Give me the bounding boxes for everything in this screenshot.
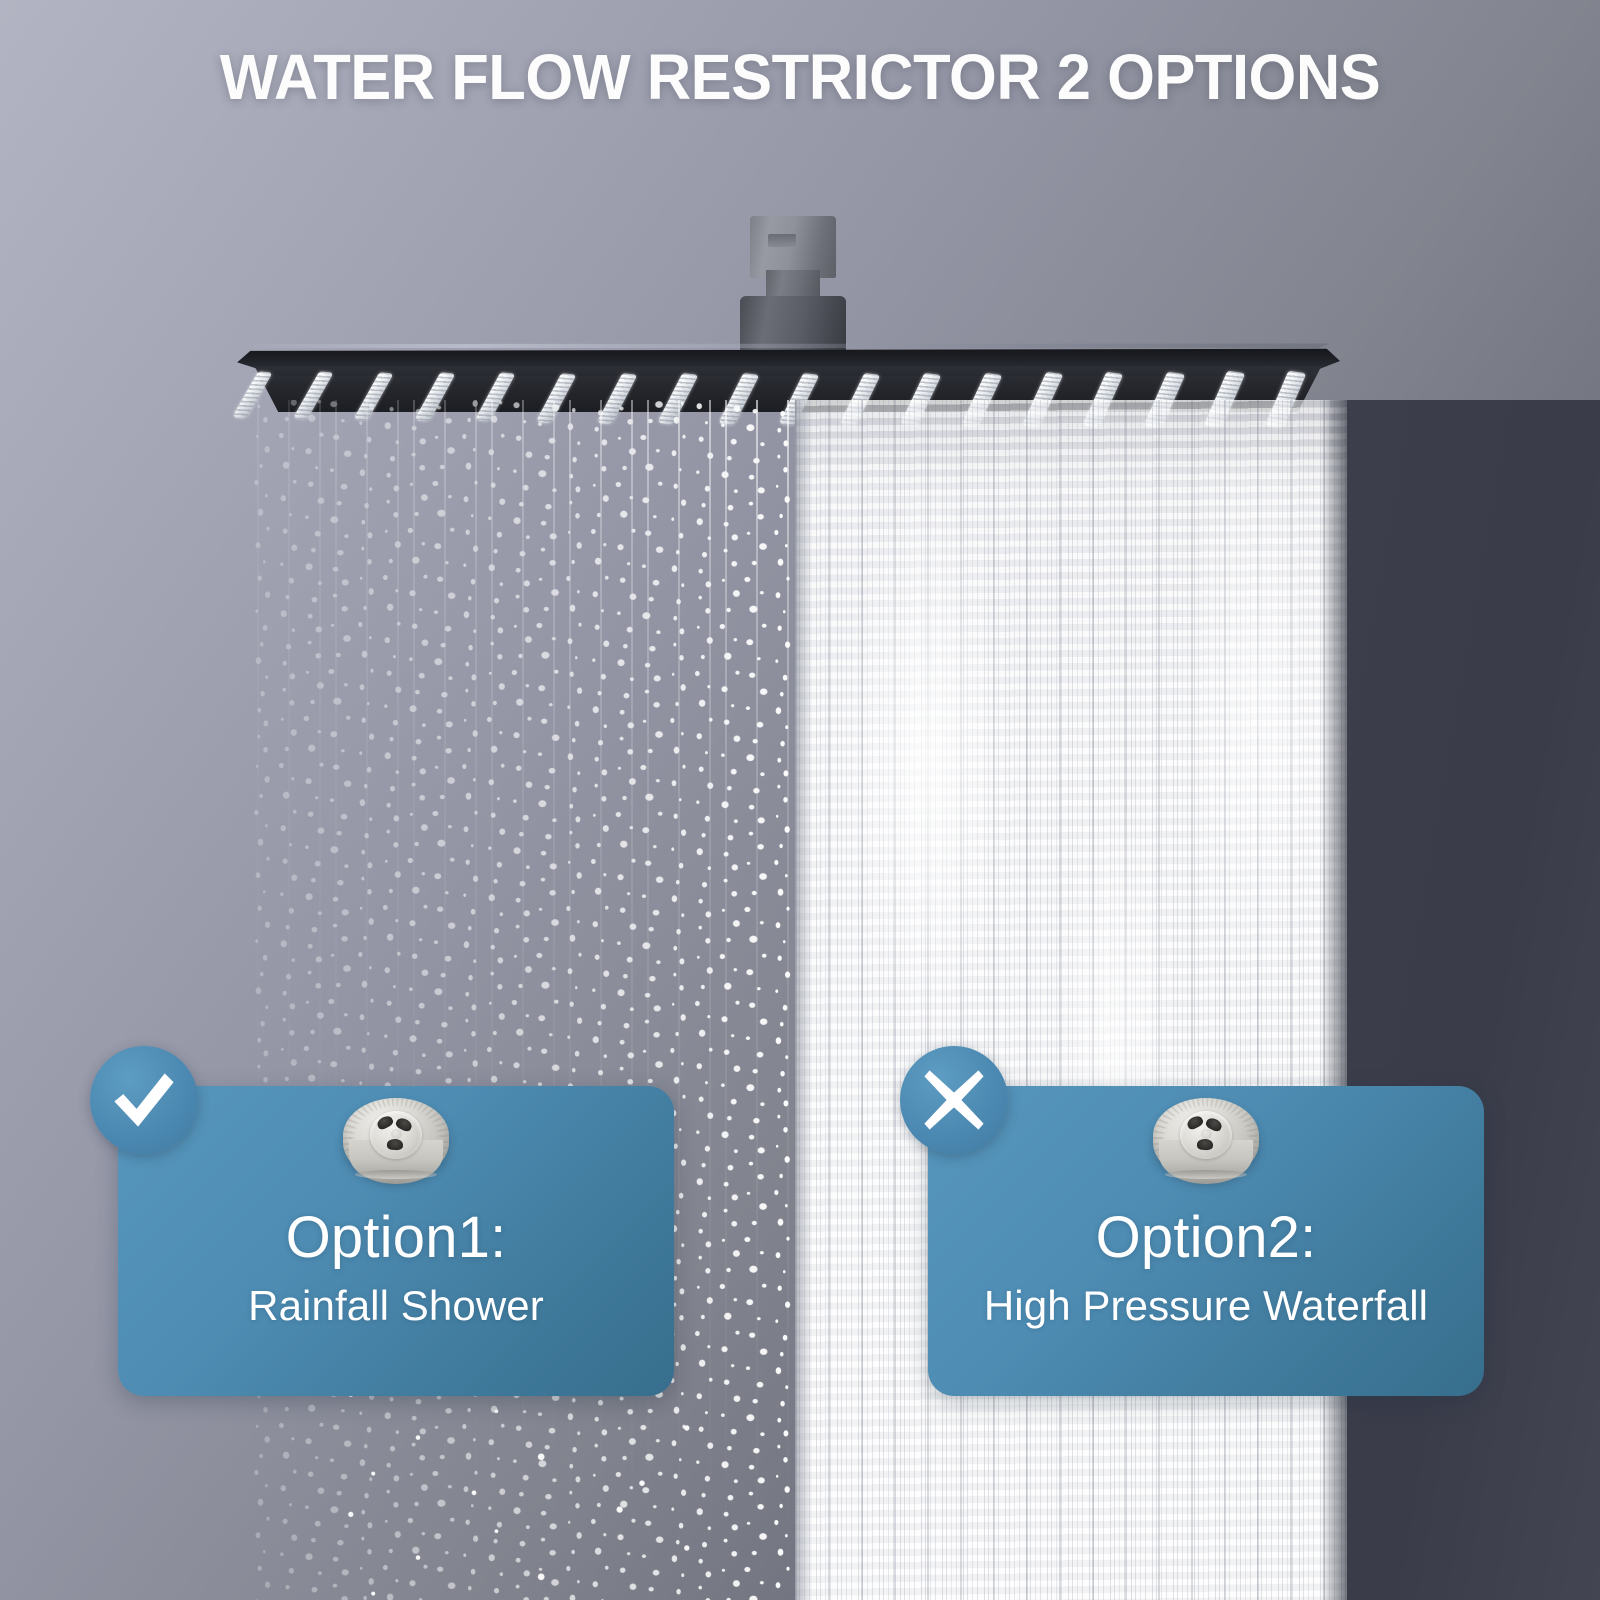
flow-restrictor-disc-1 xyxy=(339,1084,453,1188)
option-2-subtitle: High Pressure Waterfall xyxy=(928,1282,1484,1330)
option-card-2[interactable]: Option2: High Pressure Waterfall xyxy=(928,1086,1484,1396)
option-1-subtitle: Rainfall Shower xyxy=(118,1282,674,1330)
waterfall-right-edge xyxy=(1321,400,1347,1600)
shower-arm-base xyxy=(740,296,846,352)
option-1-title: Option1: xyxy=(118,1204,674,1271)
shower-arm-nut xyxy=(750,216,836,278)
option-card-1[interactable]: Option1: Rainfall Shower xyxy=(118,1086,674,1396)
flow-restrictor-disc-2 xyxy=(1149,1084,1263,1188)
overspray-droplets xyxy=(250,1380,810,1600)
page-title: WATER FLOW RESTRICTOR 2 OPTIONS xyxy=(32,40,1568,114)
option-2-title: Option2: xyxy=(928,1204,1484,1271)
waterfall-stream-right xyxy=(795,400,1347,1600)
background-dark-panel xyxy=(1330,400,1600,1600)
check-icon xyxy=(90,1046,198,1154)
waterfall-highlight xyxy=(795,400,1347,1600)
product-feature-image: WATER FLOW RESTRICTOR 2 OPTIONS Option1:… xyxy=(0,0,1600,1600)
cross-icon xyxy=(900,1046,1008,1154)
